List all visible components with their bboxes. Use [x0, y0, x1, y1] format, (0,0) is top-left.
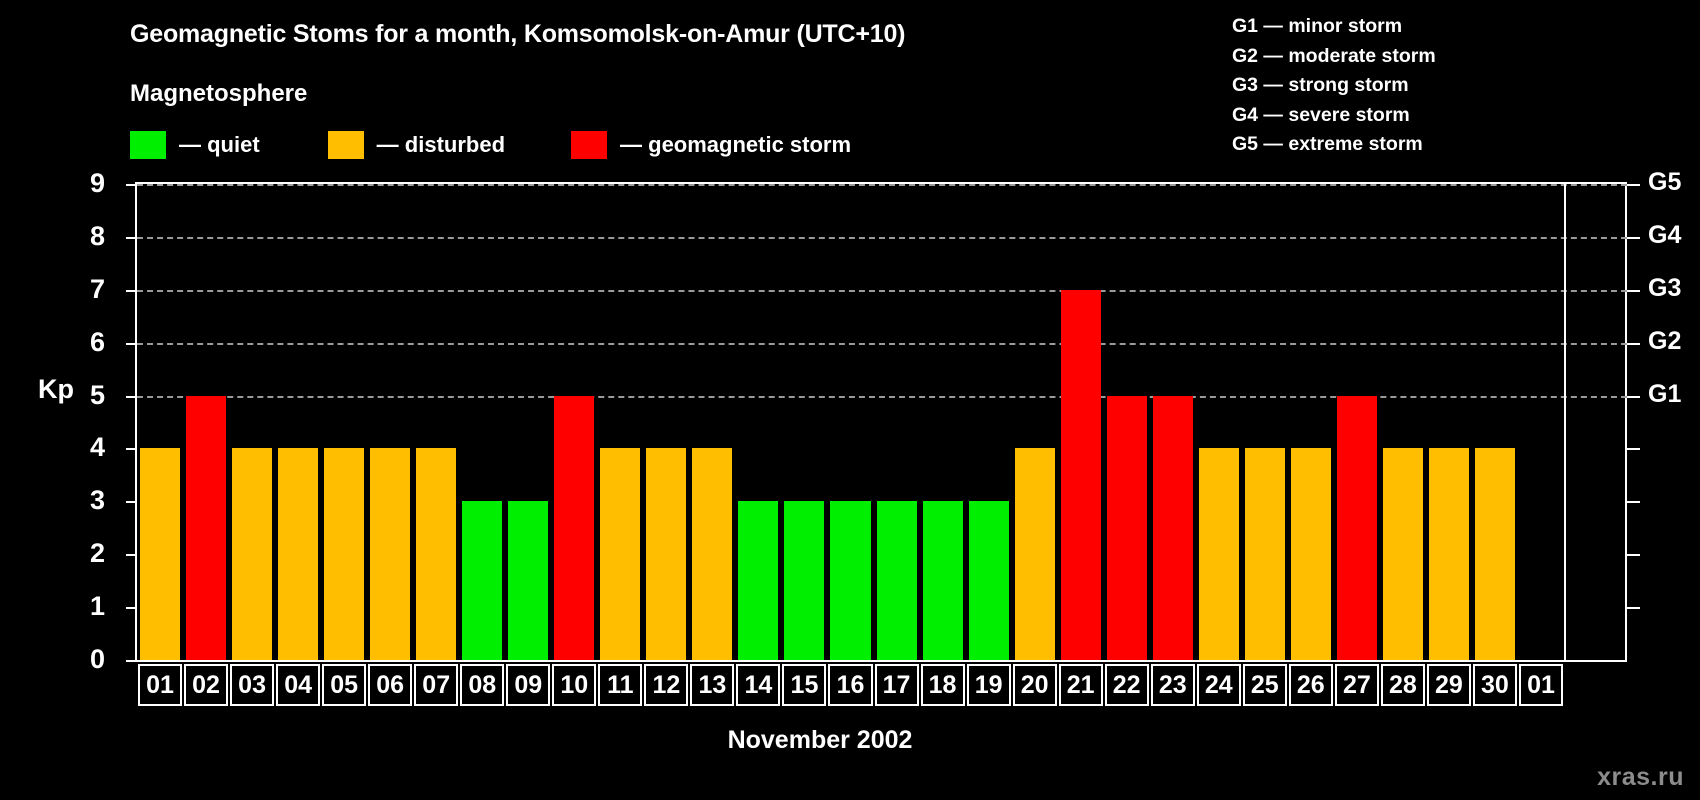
- bar-day-10[interactable]: [554, 396, 594, 660]
- y-tick-mark-0: [126, 660, 137, 662]
- gscale-legend-g4: G4 — severe storm: [1232, 101, 1436, 131]
- legend-heading: Magnetosphere: [130, 80, 307, 108]
- x-axis-label-0: 01: [138, 664, 182, 706]
- gscale-legend-g1: G1 — minor storm: [1232, 12, 1436, 42]
- legend-swatch-disturbed: [328, 131, 364, 159]
- g-tick-mark-g3: [1627, 290, 1640, 292]
- x-axis-label-21: 22: [1105, 664, 1149, 706]
- y-tick-label-6: 6: [65, 327, 105, 358]
- x-axis-label-23: 24: [1197, 664, 1241, 706]
- x-axis-label-15: 16: [828, 664, 872, 706]
- bar-day-27[interactable]: [1337, 396, 1377, 660]
- g-tick-mark-g2: [1627, 343, 1640, 345]
- g-axis-minor-tick-1: [1627, 607, 1640, 609]
- x-axis-label-13: 14: [736, 664, 780, 706]
- y-tick-mark-3: [126, 501, 137, 503]
- g-tick-label-g5: G5: [1648, 168, 1681, 197]
- legend-item-disturbed: — disturbed: [328, 131, 505, 159]
- bar-slot: [600, 184, 640, 660]
- y-tick-mark-6: [126, 343, 137, 345]
- bar-slot: [232, 184, 272, 660]
- bar-slot: [278, 184, 318, 660]
- x-axis-label-27: 28: [1381, 664, 1425, 706]
- legend-item-quiet: — quiet: [130, 131, 260, 159]
- bar-slot: [1107, 184, 1147, 660]
- y-tick-label-3: 3: [65, 485, 105, 516]
- bar-slot: [692, 184, 732, 660]
- gscale-legend-g3: G3 — strong storm: [1232, 71, 1436, 101]
- bar-slot: [1245, 184, 1285, 660]
- bar-day-06[interactable]: [370, 448, 410, 660]
- bar-day-11[interactable]: [600, 448, 640, 660]
- legend-label-storm: — geomagnetic storm: [620, 132, 851, 158]
- bar-day-18[interactable]: [923, 501, 963, 660]
- bar-slot: [1199, 184, 1239, 660]
- y-tick-label-1: 1: [65, 591, 105, 622]
- bar-slot: [923, 184, 963, 660]
- x-axis-label-22: 23: [1151, 664, 1195, 706]
- bar-day-07[interactable]: [416, 448, 456, 660]
- bar-day-25[interactable]: [1245, 448, 1285, 660]
- x-axis-label-24: 25: [1243, 664, 1287, 706]
- bar-slot: [508, 184, 548, 660]
- y-tick-mark-5: [126, 396, 137, 398]
- y-tick-mark-7: [126, 290, 137, 292]
- chart-title: Geomagnetic Stoms for a month, Komsomols…: [130, 20, 905, 49]
- bar-slot: [1475, 184, 1515, 660]
- x-axis-label-19: 20: [1013, 664, 1057, 706]
- bar-day-20[interactable]: [1015, 448, 1055, 660]
- x-axis-label-2: 03: [230, 664, 274, 706]
- y-tick-label-5: 5: [65, 380, 105, 411]
- bar-slot: [1383, 184, 1423, 660]
- y-tick-label-8: 8: [65, 221, 105, 252]
- x-axis-label-14: 15: [782, 664, 826, 706]
- y-tick-mark-8: [126, 237, 137, 239]
- bar-day-17[interactable]: [877, 501, 917, 660]
- watermark: xras.ru: [1597, 763, 1684, 792]
- bar-day-30[interactable]: [1475, 448, 1515, 660]
- bar-day-01[interactable]: [140, 448, 180, 660]
- g-axis-minor-tick-3: [1627, 501, 1640, 503]
- x-axis-label-5: 06: [368, 664, 412, 706]
- g-tick-label-g4: G4: [1648, 221, 1681, 250]
- x-axis-label-8: 09: [506, 664, 550, 706]
- gscale-legend-g5: G5 — extreme storm: [1232, 130, 1436, 160]
- g-tick-label-g3: G3: [1648, 274, 1681, 303]
- bar-slot: [1153, 184, 1193, 660]
- x-axis-label-7: 08: [460, 664, 504, 706]
- g-tick-label-g2: G2: [1648, 327, 1681, 356]
- y-tick-label-7: 7: [65, 274, 105, 305]
- legend-label-disturbed: — disturbed: [377, 132, 505, 158]
- bar-day-08[interactable]: [462, 501, 502, 660]
- x-axis-label-12: 13: [690, 664, 734, 706]
- x-axis-label-16: 17: [875, 664, 919, 706]
- bar-day-15[interactable]: [784, 501, 824, 660]
- bar-slot: [1015, 184, 1055, 660]
- bar-day-09[interactable]: [508, 501, 548, 660]
- bar-day-19[interactable]: [969, 501, 1009, 660]
- x-axis-label-1: 02: [184, 664, 228, 706]
- bar-slot: [186, 184, 226, 660]
- bar-slot: [877, 184, 917, 660]
- x-axis-label-28: 29: [1427, 664, 1471, 706]
- legend-item-storm: — geomagnetic storm: [571, 131, 851, 159]
- x-axis-label-26: 27: [1335, 664, 1379, 706]
- bar-day-02[interactable]: [186, 396, 226, 660]
- plot-divider: [1564, 184, 1566, 660]
- bar-slot: [462, 184, 502, 660]
- bar-slot: [416, 184, 456, 660]
- x-axis-label-10: 11: [598, 664, 642, 706]
- g-tick-mark-g4: [1627, 237, 1640, 239]
- g-tick-mark-g1: [1627, 396, 1640, 398]
- bar-slot: [646, 184, 686, 660]
- bar-slot: [738, 184, 778, 660]
- y-tick-label-4: 4: [65, 432, 105, 463]
- x-axis-label-30: 01: [1519, 664, 1563, 706]
- bar-day-29[interactable]: [1429, 448, 1469, 660]
- legend-swatch-storm: [571, 131, 607, 159]
- legend-swatch-quiet: [130, 131, 166, 159]
- x-axis-labels: 0102030405060708091011121314151617181920…: [137, 664, 1564, 706]
- x-axis-label-6: 07: [414, 664, 458, 706]
- gscale-legend: G1 — minor storm G2 — moderate storm G3 …: [1232, 12, 1436, 160]
- bar-slot: [324, 184, 364, 660]
- y-tick-mark-4: [126, 448, 137, 450]
- bar-slot: [830, 184, 870, 660]
- bar-slot: [784, 184, 824, 660]
- bar-slot: [554, 184, 594, 660]
- x-axis-label-18: 19: [967, 664, 1011, 706]
- gscale-legend-g2: G2 — moderate storm: [1232, 42, 1436, 72]
- bar-slot: [1429, 184, 1469, 660]
- y-tick-mark-9: [126, 184, 137, 186]
- y-tick-mark-1: [126, 607, 137, 609]
- bar-day-14[interactable]: [738, 501, 778, 660]
- y-tick-label-9: 9: [65, 168, 105, 199]
- bar-day-28[interactable]: [1383, 448, 1423, 660]
- bar-day-05[interactable]: [324, 448, 364, 660]
- x-axis-label-29: 30: [1473, 664, 1517, 706]
- chart-root: Geomagnetic Stoms for a month, Komsomols…: [0, 0, 1700, 800]
- x-axis-label-11: 12: [644, 664, 688, 706]
- x-axis-label-9: 10: [552, 664, 596, 706]
- bar-day-03[interactable]: [232, 448, 272, 660]
- bar-day-13[interactable]: [692, 448, 732, 660]
- g-axis-minor-tick-2: [1627, 554, 1640, 556]
- bar-day-16[interactable]: [830, 501, 870, 660]
- bar-slot: [1337, 184, 1377, 660]
- g-tick-mark-g5: [1627, 184, 1640, 186]
- x-axis-label-17: 18: [921, 664, 965, 706]
- g-tick-label-g1: G1: [1648, 380, 1681, 409]
- bar-day-23[interactable]: [1153, 396, 1193, 660]
- bar-slot: [370, 184, 410, 660]
- bar-slot: [1061, 184, 1101, 660]
- x-axis-label-25: 26: [1289, 664, 1333, 706]
- y-tick-label-0: 0: [65, 644, 105, 675]
- x-axis-label-4: 05: [322, 664, 366, 706]
- y-tick-label-2: 2: [65, 538, 105, 569]
- bar-day-21[interactable]: [1061, 290, 1101, 660]
- bar-day-22[interactable]: [1107, 396, 1147, 660]
- g-axis-minor-tick-4: [1627, 448, 1640, 450]
- y-tick-mark-2: [126, 554, 137, 556]
- x-axis-label-20: 21: [1059, 664, 1103, 706]
- legend-label-quiet: — quiet: [179, 132, 260, 158]
- bar-day-24[interactable]: [1199, 448, 1239, 660]
- bar-slot: [1291, 184, 1331, 660]
- bar-day-26[interactable]: [1291, 448, 1331, 660]
- bar-day-12[interactable]: [646, 448, 686, 660]
- bars-layer: [137, 184, 1564, 660]
- x-axis-title: November 2002: [0, 726, 1700, 755]
- bar-slot: [140, 184, 180, 660]
- magnetosphere-legend: — quiet — disturbed — geomagnetic storm: [130, 130, 851, 160]
- x-axis-label-3: 04: [276, 664, 320, 706]
- bar-slot: [969, 184, 1009, 660]
- bar-day-04[interactable]: [278, 448, 318, 660]
